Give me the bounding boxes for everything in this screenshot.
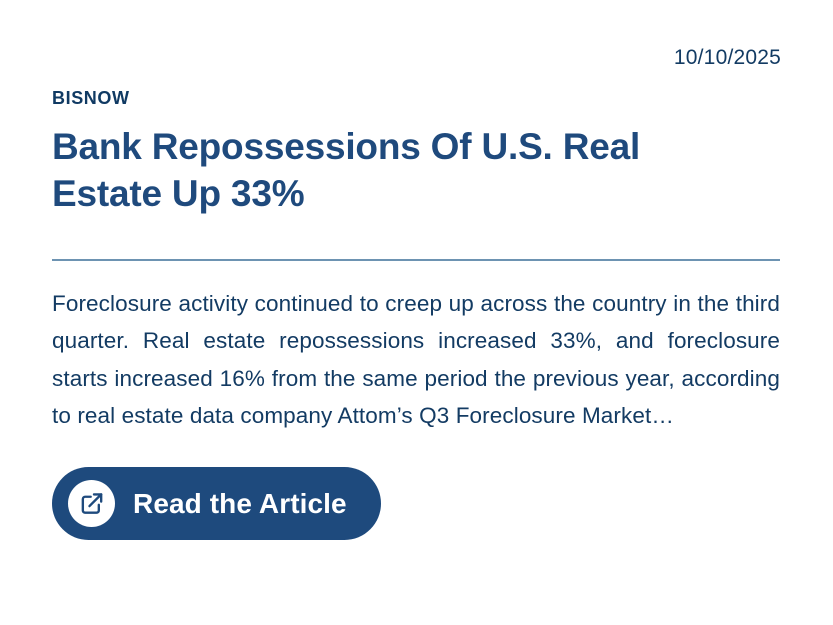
article-summary: Foreclosure activity continued to creep … [52,285,780,434]
date-row: 10/10/2025 [52,0,781,68]
article-card: 10/10/2025 BISNOW Bank Repossessions Of … [0,0,833,625]
source-label: BISNOW [52,89,781,107]
divider [52,259,780,261]
publish-date: 10/10/2025 [674,47,781,68]
page-title: Bank Repossessions Of U.S. Real Estate U… [52,124,732,218]
cta-label: Read the Article [133,490,347,518]
external-link-icon [68,480,115,527]
read-the-article-button[interactable]: Read the Article [52,467,381,540]
cta-row: Read the Article [52,467,781,540]
